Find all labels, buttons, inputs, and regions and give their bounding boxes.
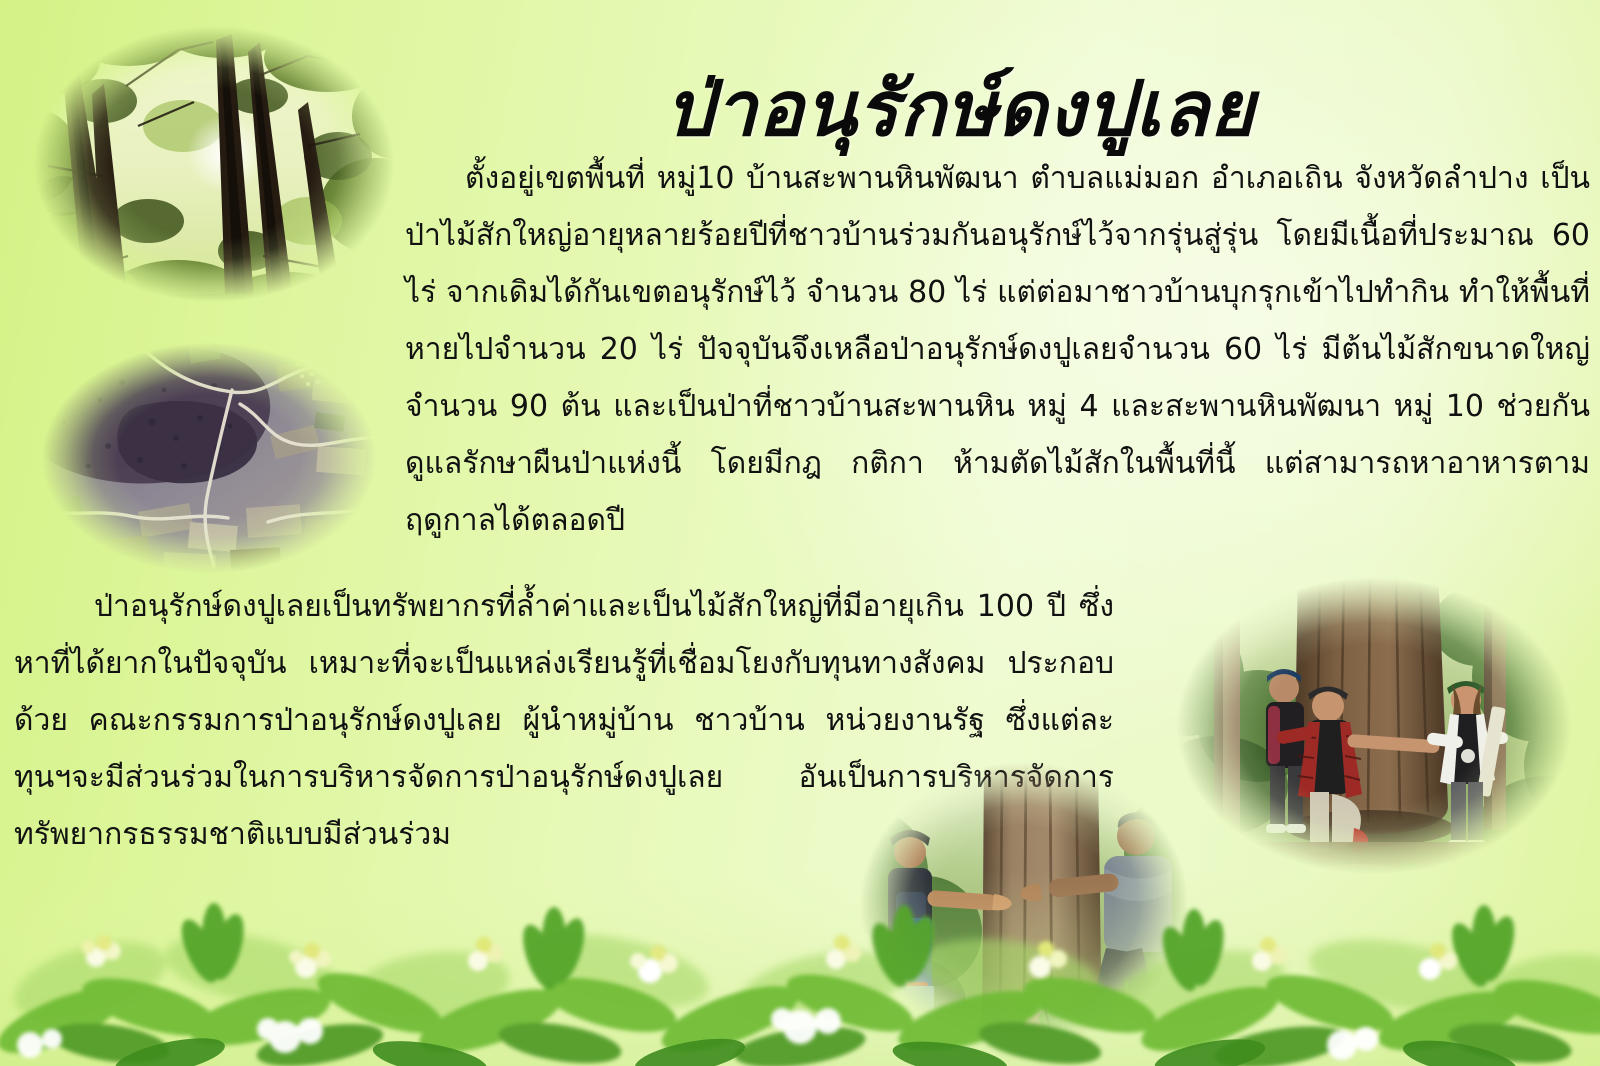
intro-paragraph: ตั้งอยู่เขตพื้นที่ หมู่10 บ้านสะพานหินพั…: [405, 150, 1590, 549]
poster-title: ป่าอนุรักษ์ดงปูเลย: [560, 69, 1360, 149]
measuring-tree-photo: [836, 742, 1212, 1066]
poster-canvas: ป่าอนุรักษ์ดงปูเลย ตั้งอยู่เขตพื้นที่ หม…: [0, 0, 1600, 1066]
forest-canopy-photo: [8, 6, 420, 322]
villagers-at-teak-tree-photo: [1148, 556, 1600, 896]
aerial-map-photo: [18, 326, 400, 590]
